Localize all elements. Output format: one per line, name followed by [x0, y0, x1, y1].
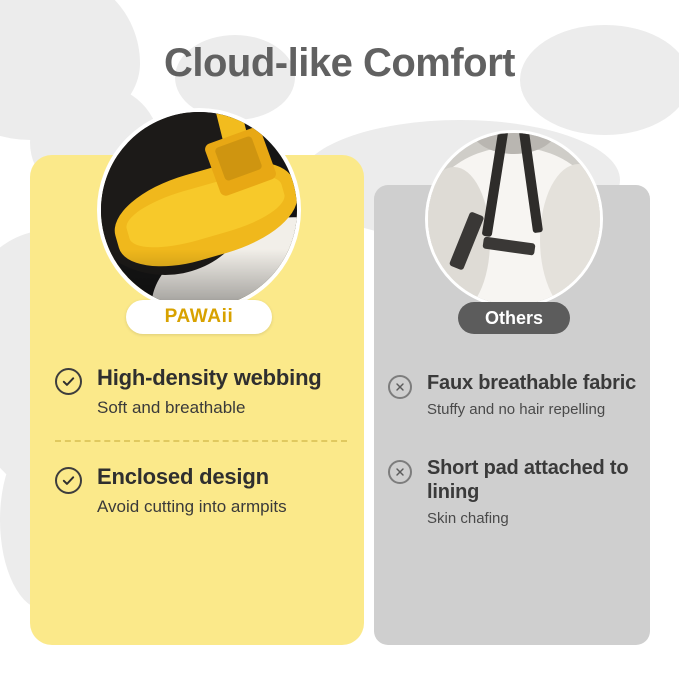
list-item: Enclosed design Avoid cutting into armpi… [55, 464, 355, 517]
brand-feature-list: High-density webbing Soft and breathable… [55, 365, 355, 517]
feature-subtitle: Skin chafing [427, 510, 638, 528]
feature-subtitle: Soft and breathable [97, 398, 322, 418]
list-item: Faux breathable fabric Stuffy and no hai… [388, 372, 638, 419]
feature-title: Short pad attached to lining [427, 457, 628, 502]
feature-subtitle: Avoid cutting into armpits [97, 497, 287, 517]
list-spacer [388, 419, 638, 457]
others-feature-list: Faux breathable fabric Stuffy and no hai… [388, 372, 638, 528]
brand-badge: PAWAii [126, 300, 272, 334]
feature-subtitle: Stuffy and no hair repelling [427, 401, 636, 419]
feature-title: Enclosed design [97, 464, 269, 489]
brand-product-photo [97, 108, 301, 312]
page-title: Cloud-like Comfort [0, 41, 679, 86]
check-icon [55, 467, 82, 494]
cross-icon [388, 375, 412, 399]
feature-title: Faux breathable fabric [427, 372, 636, 394]
list-item: High-density webbing Soft and breathable [55, 365, 355, 418]
list-divider [55, 440, 347, 442]
cross-icon [388, 460, 412, 484]
list-item: Short pad attached to lining Skin chafin… [388, 457, 638, 528]
others-badge: Others [458, 302, 570, 334]
feature-title: High-density webbing [97, 365, 322, 390]
check-icon [55, 368, 82, 395]
others-product-photo [425, 130, 603, 308]
